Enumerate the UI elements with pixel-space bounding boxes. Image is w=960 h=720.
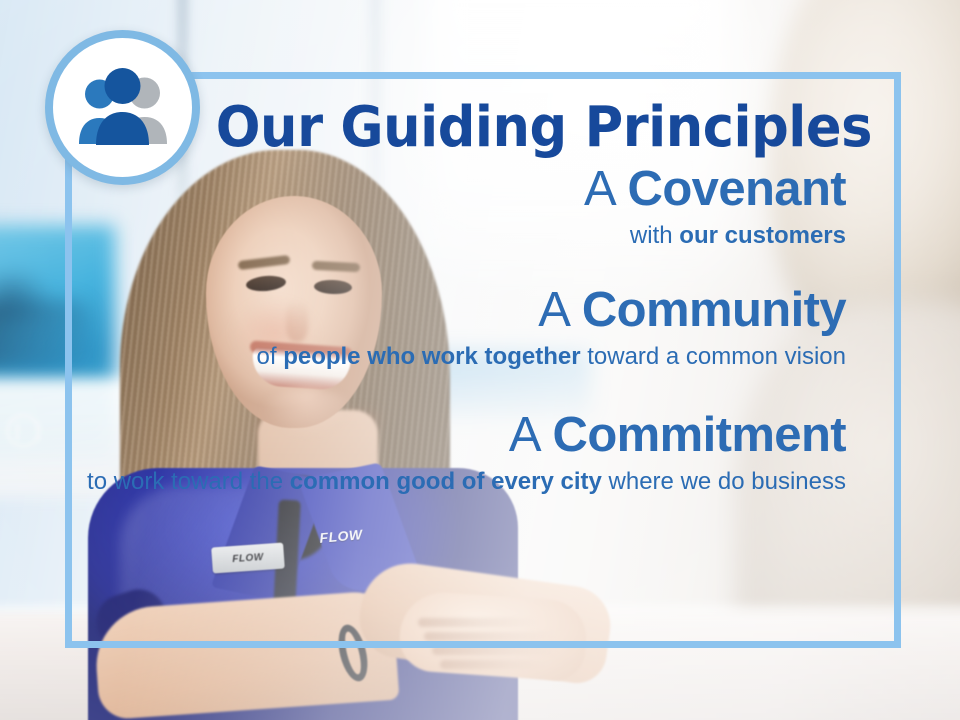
photo-hand-crease <box>432 646 558 655</box>
principle-heading-covenant: A Covenant <box>80 164 846 216</box>
page-title: Our Guiding Principles <box>103 100 823 156</box>
poster-canvas: FLOW FLOW <box>0 0 960 720</box>
principle-keyword-covenant: Covenant <box>628 162 846 216</box>
principle-heading-commitment: A Commitment <box>80 410 846 462</box>
principle-block-covenant: A Covenant with our customers <box>80 164 846 251</box>
principle-article-3: A <box>509 408 539 462</box>
principle-heading-community: A Community <box>80 285 846 337</box>
principles-content: Our Guiding Principles A Covenant with o… <box>80 80 890 640</box>
principle-block-commitment: A Commitment to work toward the common g… <box>80 410 846 497</box>
principle-body-covenant: with our customers <box>80 220 846 251</box>
principle-body-commitment: to work toward the common good of every … <box>80 466 846 497</box>
principle-keyword-community: Community <box>582 283 846 337</box>
photo-hand-crease <box>440 660 544 669</box>
principle-keyword-commitment: Commitment <box>553 408 846 462</box>
principle-body-community: of people who work together toward a com… <box>80 341 846 372</box>
principle-article-2: A <box>538 283 568 337</box>
principle-article-1: A <box>584 162 614 216</box>
principle-block-community: A Community of people who work together … <box>80 285 846 372</box>
